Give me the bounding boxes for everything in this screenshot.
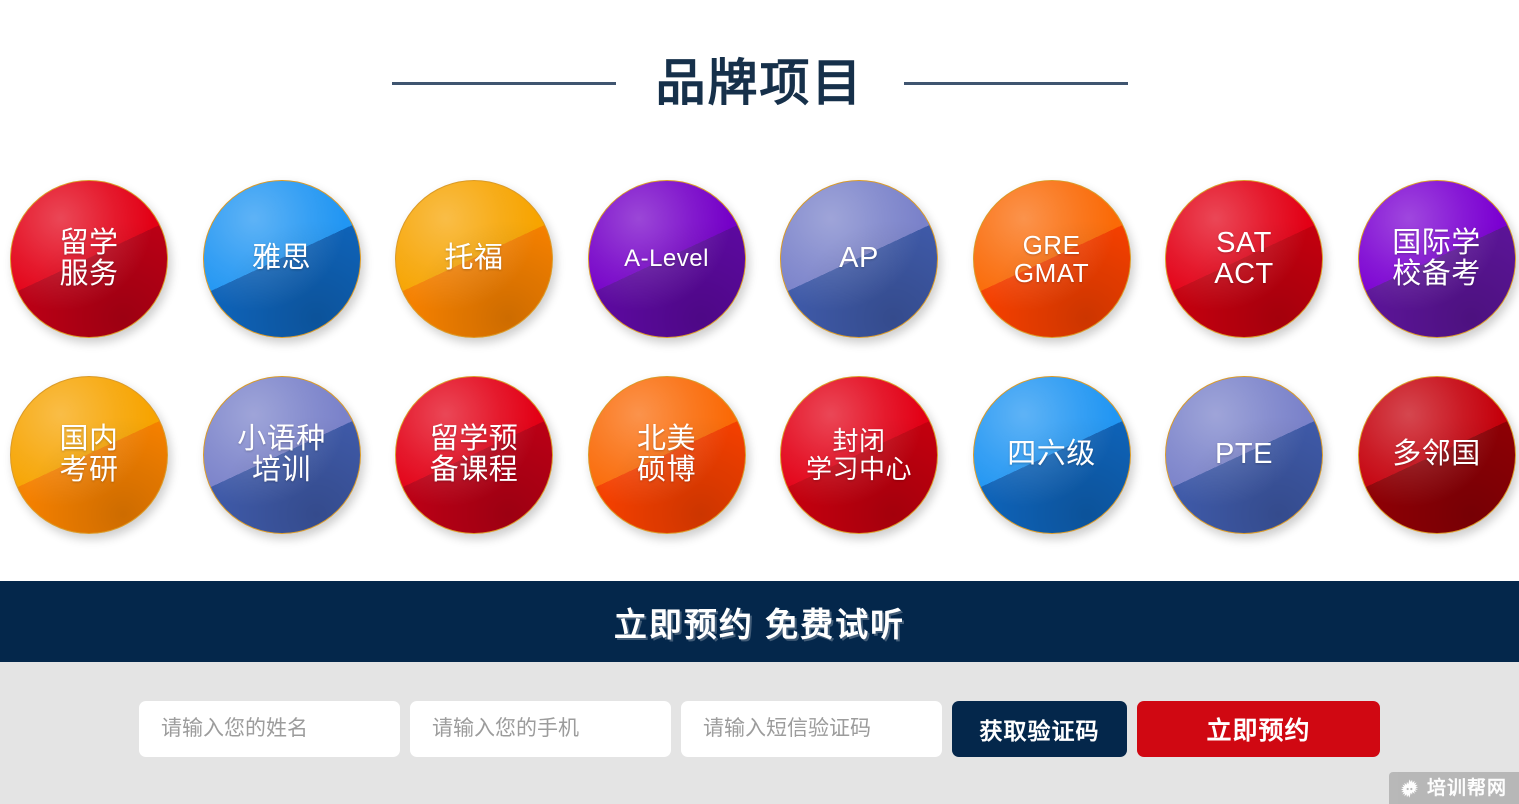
program-bubble-pte[interactable]: PTE <box>1165 376 1323 534</box>
program-bubble-sat-act[interactable]: SAT ACT <box>1165 180 1323 338</box>
bubble-label: 小语种 培训 <box>231 424 332 487</box>
program-bubble-ielts[interactable]: 雅思 <box>203 180 361 338</box>
bubble-label: AP <box>833 243 885 274</box>
booking-form-row: 获取验证码 立即预约 <box>139 701 1380 757</box>
sms-code-input[interactable] <box>681 701 942 757</box>
bubble-label: 国际学 校备考 <box>1386 228 1487 291</box>
program-bubble-gre-gmat[interactable]: GRE GMAT <box>973 180 1131 338</box>
site-watermark: 培训帮网 <box>1389 772 1519 804</box>
program-bubble-ap[interactable]: AP <box>780 180 938 338</box>
sun-face-icon <box>1399 778 1420 799</box>
program-bubble-a-level[interactable]: A-Level <box>588 180 746 338</box>
program-bubble-international-school-prep[interactable]: 国际学 校备考 <box>1358 180 1516 338</box>
bubble-label: 国内 考研 <box>53 424 124 487</box>
watermark-label: 培训帮网 <box>1427 779 1507 798</box>
bubble-label: PTE <box>1209 439 1279 470</box>
program-bubble-north-america-master-phd[interactable]: 北美 硕博 <box>588 376 746 534</box>
program-bubble-duolingo[interactable]: 多邻国 <box>1358 376 1516 534</box>
submit-booking-button[interactable]: 立即预约 <box>1137 701 1380 757</box>
bubble-label: 四六级 <box>1001 439 1102 470</box>
program-row-1: 留学 服务雅思托福A-LevelAPGRE GMATSAT ACT国际学 校备考 <box>0 174 1519 366</box>
bubble-label: 托福 <box>438 243 509 274</box>
cta-banner-text: 立即预约 免费试听 <box>614 598 905 646</box>
bubble-label: A-Level <box>618 246 715 272</box>
program-bubble-domestic-postgraduate[interactable]: 国内 考研 <box>10 376 168 534</box>
cta-banner: 立即预约 免费试听 <box>0 581 1519 662</box>
bubble-label: GRE GMAT <box>1008 231 1095 287</box>
get-verification-code-button[interactable]: 获取验证码 <box>952 701 1127 757</box>
program-bubble-grid: 留学 服务雅思托福A-LevelAPGRE GMATSAT ACT国际学 校备考… <box>0 174 1519 570</box>
phone-input[interactable] <box>410 701 671 757</box>
heading-rule-left <box>392 82 616 85</box>
bubble-label: SAT ACT <box>1208 228 1280 291</box>
page-header: 品牌项目 <box>0 0 1519 166</box>
program-bubble-cet-4-6[interactable]: 四六级 <box>973 376 1131 534</box>
bubble-label: 北美 硕博 <box>631 424 702 487</box>
program-bubble-closed-study-center[interactable]: 封闭 学习中心 <box>780 376 938 534</box>
name-input[interactable] <box>139 701 400 757</box>
program-bubble-minor-language-training[interactable]: 小语种 培训 <box>203 376 361 534</box>
bubble-label: 封闭 学习中心 <box>800 427 918 483</box>
bubble-label: 多邻国 <box>1386 439 1487 470</box>
bubble-label: 雅思 <box>246 243 317 274</box>
program-bubble-study-abroad-prep-course[interactable]: 留学预 备课程 <box>395 376 553 534</box>
booking-form-strip: 获取验证码 立即预约 <box>0 662 1519 804</box>
program-bubble-toefl[interactable]: 托福 <box>395 180 553 338</box>
bubble-label: 留学预 备课程 <box>424 424 525 487</box>
heading-rule-right <box>904 82 1128 85</box>
bubble-label: 留学 服务 <box>53 228 124 291</box>
page-title: 品牌项目 <box>656 58 864 108</box>
program-bubble-study-abroad-service[interactable]: 留学 服务 <box>10 180 168 338</box>
program-row-2: 国内 考研小语种 培训留学预 备课程北美 硕博封闭 学习中心四六级PTE多邻国 <box>0 370 1519 562</box>
